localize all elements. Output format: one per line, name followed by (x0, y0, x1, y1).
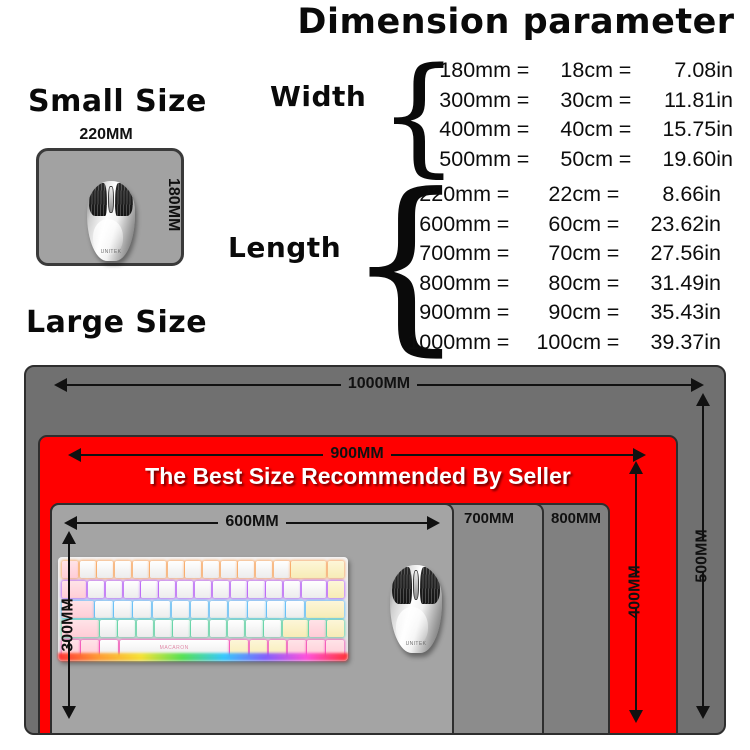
key (100, 620, 117, 637)
key (191, 620, 208, 637)
key (306, 601, 345, 618)
key (328, 561, 344, 578)
spec-mm: 900mm (376, 298, 491, 328)
spec-mm: 700mm (376, 239, 491, 269)
key (210, 601, 228, 618)
dimension-label-900mm: 900MM (323, 445, 390, 463)
spec-eq: = (511, 115, 535, 145)
spec-in: 31.49in (625, 269, 721, 299)
mouse-left-button (392, 567, 412, 604)
spec-cm: 30cm (535, 86, 613, 116)
spec-eq: = (491, 210, 515, 240)
key (327, 620, 344, 637)
dimension-arrow-500mm: 500MM (694, 393, 712, 719)
spec-eq: = (601, 210, 625, 240)
spec-eq: = (601, 269, 625, 299)
key (195, 581, 211, 598)
key (256, 561, 272, 578)
length-spec-rows: 220mm = 22cm = 8.66in 600mm = 60cm = 23.… (376, 180, 721, 358)
spec-in: 8.66in (625, 180, 721, 210)
arrow-head-right-icon (691, 378, 704, 392)
key (221, 561, 237, 578)
key (284, 581, 300, 598)
key (264, 620, 281, 637)
spec-eq: = (491, 239, 515, 269)
spec-row: 1000mm = 100cm = 39.37in (376, 328, 721, 358)
key (150, 561, 166, 578)
key (266, 581, 282, 598)
mouse-brand-label: UNITEK (404, 641, 429, 647)
key (328, 581, 344, 598)
spec-eq: = (491, 328, 515, 358)
arrow-head-down-icon (62, 706, 76, 719)
spec-eq: = (613, 115, 637, 145)
arrow-head-up-icon (696, 393, 710, 406)
dimension-arrow-900mm: 900MM (68, 447, 646, 463)
key (124, 581, 140, 598)
spec-mm: 300mm (408, 86, 511, 116)
spec-in: 39.37in (625, 328, 721, 358)
key (137, 620, 154, 637)
spec-row: 180mm = 18cm = 7.08in (408, 56, 733, 86)
key (114, 601, 132, 618)
key (231, 581, 247, 598)
arrow-line (702, 406, 704, 541)
key (309, 620, 326, 637)
dimension-arrow-600mm: 600MM (64, 515, 440, 531)
spec-eq: = (613, 86, 637, 116)
arrow-line (286, 522, 427, 524)
key (133, 561, 149, 578)
spec-eq: = (601, 328, 625, 358)
dimension-label-400mm: 400MM (621, 565, 651, 618)
keyboard-rgb-underglow (58, 653, 348, 661)
spec-row: 220mm = 22cm = 8.66in (376, 180, 721, 210)
key (106, 581, 122, 598)
arrow-head-up-icon (629, 461, 643, 474)
spec-eq: = (511, 145, 535, 175)
arrow-head-right-icon (427, 516, 440, 530)
spec-eq: = (491, 269, 515, 299)
key (238, 561, 254, 578)
key (267, 601, 285, 618)
spec-row: 800mm = 80cm = 31.49in (376, 269, 721, 299)
spec-eq: = (491, 180, 515, 210)
arrow-head-down-icon (629, 710, 643, 723)
spec-cm: 80cm (515, 269, 601, 299)
mouse-left-button (89, 183, 107, 217)
spec-eq: = (511, 56, 535, 86)
spec-cm: 90cm (515, 298, 601, 328)
spec-in: 35.43in (625, 298, 721, 328)
mouse-right-button (420, 567, 440, 604)
arrow-head-up-icon (62, 531, 76, 544)
dimension-arrow-400mm: 400MM (627, 461, 645, 723)
small-mousepad: UNITEK (36, 148, 184, 266)
dimension-arrow-300mm: 300MM (60, 531, 78, 719)
arrow-line (391, 454, 633, 456)
key (291, 561, 326, 578)
large-size-diagram: MACARON UNITEK 700MM 800MM The Best Size… (24, 365, 726, 735)
arrow-line (67, 384, 341, 386)
key (115, 561, 131, 578)
spec-row: 400mm = 40cm = 15.75in (408, 115, 733, 145)
spec-in: 19.60in (637, 145, 733, 175)
small-pad-width-label: 220MM (30, 126, 182, 144)
spec-cm: 100cm (515, 328, 601, 358)
spec-eq: = (601, 180, 625, 210)
spec-in: 15.75in (637, 115, 733, 145)
spec-in: 27.56in (625, 239, 721, 269)
key (133, 601, 151, 618)
spec-row: 600mm = 60cm = 23.62in (376, 210, 721, 240)
arrow-head-right-icon (633, 448, 646, 462)
mouse-body: UNITEK (87, 181, 135, 261)
dimension-label-300mm: 300MM (54, 598, 84, 651)
arrow-line (81, 454, 323, 456)
key (153, 601, 171, 618)
key (248, 581, 264, 598)
spec-row: 700mm = 70cm = 27.56in (376, 239, 721, 269)
spec-cm: 70cm (515, 239, 601, 269)
small-pad-height-label: 180MM (164, 178, 182, 231)
key (118, 620, 135, 637)
key (246, 620, 263, 637)
spec-eq: = (613, 56, 637, 86)
key (283, 620, 308, 637)
mouse-scroll-wheel (413, 570, 419, 600)
key (168, 561, 184, 578)
key (210, 620, 227, 637)
spec-row: 900mm = 90cm = 35.43in (376, 298, 721, 328)
key (191, 601, 209, 618)
spec-cm: 22cm (515, 180, 601, 210)
mouse-body: UNITEK (390, 565, 442, 653)
spec-cm: 60cm (515, 210, 601, 240)
arrow-head-down-icon (696, 706, 710, 719)
spec-eq: = (491, 298, 515, 328)
spec-mm: 220mm (376, 180, 491, 210)
dimension-label-500mm: 500MM (688, 529, 718, 582)
key (173, 620, 190, 637)
arrow-head-left-icon (64, 516, 77, 530)
spec-mm: 600mm (376, 210, 491, 240)
arrow-line (635, 607, 637, 710)
spec-mm: 180mm (408, 56, 511, 86)
spec-cm: 50cm (535, 145, 613, 175)
arrow-line (417, 384, 691, 386)
small-size-heading: Small Size (28, 84, 207, 119)
key (302, 581, 326, 598)
spec-in: 23.62in (625, 210, 721, 240)
key (286, 601, 304, 618)
dimension-arrow-1000mm: 1000MM (54, 377, 704, 393)
strip-label-700mm: 700MM (464, 510, 514, 527)
mouse-scroll-wheel (108, 186, 114, 213)
arrow-head-left-icon (54, 378, 67, 392)
spec-cm: 40cm (535, 115, 613, 145)
arrow-line (635, 474, 637, 577)
strip-label-800mm: 800MM (551, 510, 601, 527)
key (95, 601, 113, 618)
spec-mm: 1000mm (376, 328, 491, 358)
dimension-label-1000mm: 1000MM (341, 375, 417, 393)
arrow-line (702, 571, 704, 706)
dimension-label-600mm: 600MM (218, 513, 285, 531)
key (159, 581, 175, 598)
keyboard-row (62, 561, 344, 578)
keyboard-row (62, 620, 344, 637)
spec-mm: 800mm (376, 269, 491, 299)
key (248, 601, 266, 618)
key (177, 581, 193, 598)
key (97, 561, 113, 578)
key (229, 601, 247, 618)
key (213, 581, 229, 598)
spec-eq: = (601, 239, 625, 269)
key (141, 581, 157, 598)
large-size-heading: Large Size (26, 305, 207, 340)
spec-eq: = (601, 298, 625, 328)
length-label: Length (228, 231, 341, 264)
key (274, 561, 290, 578)
mouse-icon: UNITEK (87, 181, 135, 261)
key (88, 581, 104, 598)
keyboard-row (62, 581, 344, 598)
width-label: Width (270, 80, 366, 113)
spec-row: 300mm = 30cm = 11.81in (408, 86, 733, 116)
keyboard-row (62, 601, 344, 618)
key (185, 561, 201, 578)
spec-eq: = (511, 86, 535, 116)
spec-eq: = (613, 145, 637, 175)
keyboard-illustration: MACARON (58, 557, 348, 661)
mouse-brand-label: UNITEK (99, 249, 122, 255)
mouse-right-button (115, 183, 133, 217)
mouse-icon: UNITEK (390, 565, 442, 653)
page-title: Dimension parameter (286, 2, 746, 42)
spec-in: 7.08in (637, 56, 733, 86)
key (80, 561, 96, 578)
arrow-line (77, 522, 218, 524)
spec-in: 11.81in (637, 86, 733, 116)
spec-cm: 18cm (535, 56, 613, 86)
spec-mm: 400mm (408, 115, 511, 145)
recommended-size-banner: The Best Size Recommended By Seller (38, 463, 678, 490)
key (172, 601, 190, 618)
key (203, 561, 219, 578)
key (155, 620, 172, 637)
key (228, 620, 245, 637)
arrow-head-left-icon (68, 448, 81, 462)
